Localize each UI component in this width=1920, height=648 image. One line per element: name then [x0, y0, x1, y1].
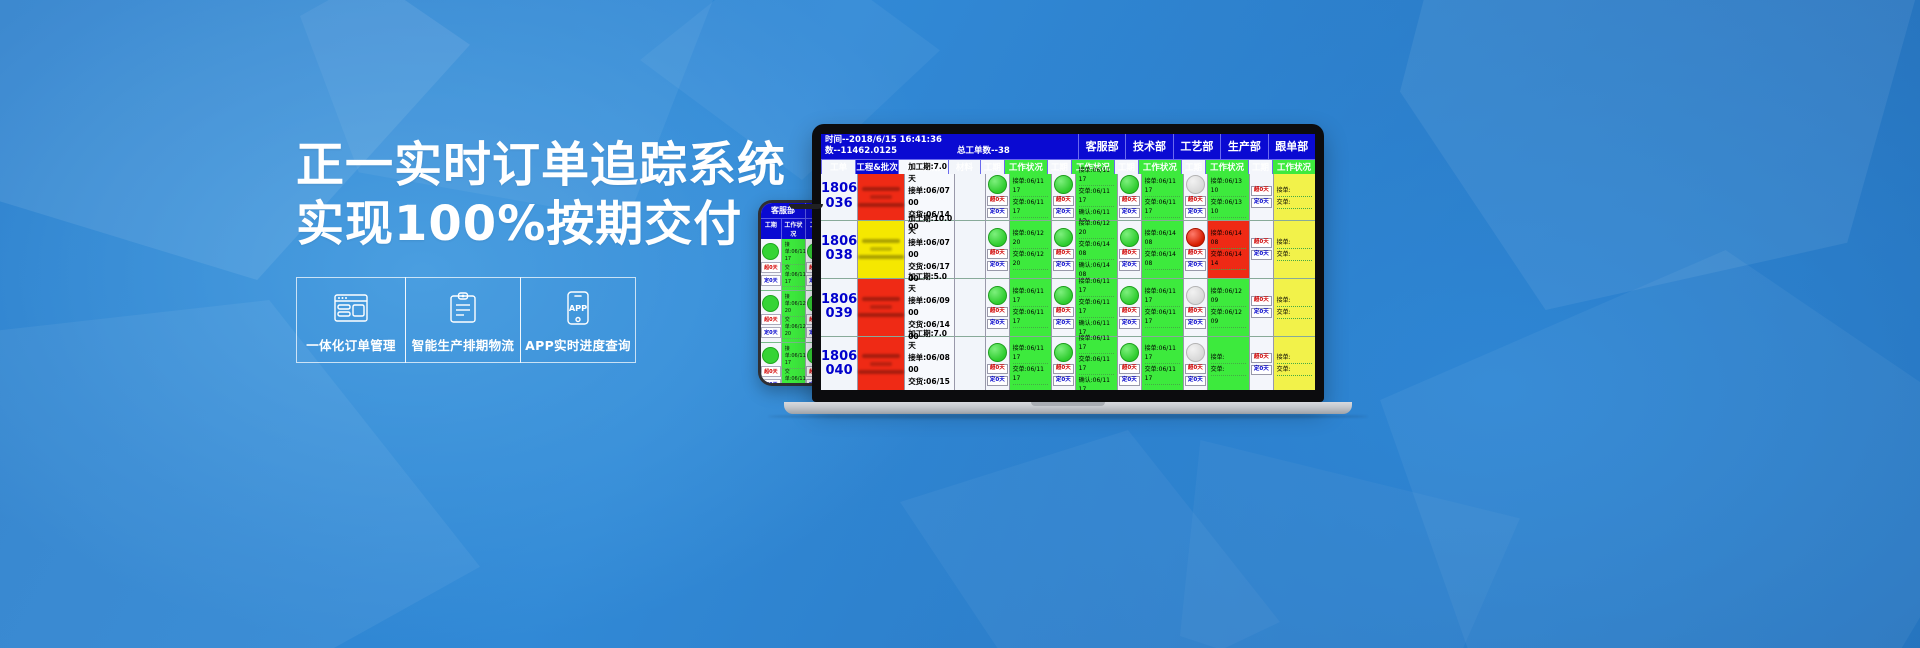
bg-polygon [1400, 0, 1920, 310]
status-content: 接单:06/13 10交单:06/13 10 [1208, 174, 1249, 220]
project-cell[interactable] [858, 337, 904, 390]
app-badge-text: APP [569, 303, 587, 313]
cycle-line: 加工期:7.0天 [908, 161, 953, 185]
feature-app-progress[interactable]: APP APP实时进度查询 [520, 277, 636, 363]
project-text-blur [870, 195, 892, 199]
duration-cell[interactable]: 超0天定0天 [1118, 279, 1141, 337]
over-days-tag: 超0天 [1053, 307, 1074, 317]
status-line: 接单:06/11 17 [782, 346, 805, 369]
status-line: 交单: [1277, 197, 1312, 209]
feature-production-schedule[interactable]: 智能生产排期物流 [405, 277, 521, 363]
col-header-status: 工作状况 [1004, 160, 1047, 174]
duration-content: 超0天定0天 [1052, 174, 1075, 220]
status-line: 交单:06/14 14 [1211, 249, 1246, 270]
column-duration-3: 超0天定0天超0天定0天超0天定0天超0天定0天 [1117, 174, 1141, 390]
dept-technical: 技术部 [1125, 134, 1172, 159]
project-text-blur [870, 362, 892, 366]
column-work-status-5: 接单:交单:接单:交单:接单:交单:接单:交单: [1273, 174, 1315, 390]
status-line: 交单:06/14 08 [1079, 239, 1114, 260]
mobile-app-icon: APP [566, 288, 590, 328]
duration-content: 超0天定0天 [1118, 174, 1141, 220]
duration-cell[interactable]: 超0天定0天 [1118, 174, 1141, 221]
over-days-tag: 超0天 [761, 366, 780, 377]
status-cell[interactable]: 接单:06/11 17交单:06/11 17 [1142, 174, 1183, 221]
duration-content: 超0天定0天 [1250, 221, 1273, 278]
status-line: 交单:06/11 17 [1013, 364, 1048, 385]
fixed-days-tag: 定0天 [1251, 198, 1272, 208]
status-content: 接单:交单: [1274, 174, 1315, 220]
duration-cell[interactable]: 超0天定0天 [1184, 279, 1207, 337]
order-management-icon [334, 288, 368, 328]
duration-content: 超0天定0天 [1184, 221, 1207, 278]
status-line: 交单:06/11 17 [782, 369, 805, 384]
status-dot-green [988, 286, 1007, 305]
fixed-days-tag: 定0天 [1251, 250, 1272, 260]
fixed-days-tag: 定0天 [1185, 261, 1206, 271]
duration-content: 超0天定0天 [1250, 174, 1273, 220]
duration-cell[interactable]: 超0天定0天 [1184, 337, 1207, 390]
status-cell[interactable]: 接单:06/11 17交单:06/11 17确认:06/11 17 [1076, 279, 1117, 337]
over-days-tag: 超0天 [1119, 307, 1140, 317]
cycle-cell[interactable]: 加工期:7.0天接单:06/08 00交货:06/15 00 [905, 337, 953, 390]
status-dot-green [1120, 286, 1139, 305]
dept-merchandising: 跟单部 [1268, 134, 1315, 159]
status-line: 交单:06/14 08 [1145, 249, 1180, 270]
topbar-info: 时间--2018/6/15 16:41:36 数--11462.0125 总工单… [821, 134, 1078, 159]
phone-col-status: 工作状况 [782, 218, 806, 239]
status-line: 交单:06/11 17 [1079, 186, 1114, 207]
phone-cell[interactable]: 接单:06/11 17 交单:06/11 17 [782, 239, 805, 291]
status-line: 接单: [1277, 237, 1312, 249]
phone-cell[interactable]: 超0天 定0天 [761, 343, 781, 383]
status-line: 接单: [1277, 352, 1312, 364]
status-line: 接单:06/11 17 [782, 242, 805, 265]
project-text-blur [870, 305, 892, 309]
project-text-blur [858, 370, 904, 374]
fixed-days-tag: 定0天 [1119, 261, 1140, 271]
column-work-status-4: 接单:06/13 10交单:06/13 10接单:06/14 08交单:06/1… [1207, 174, 1249, 390]
topbar-time: 时间--2018/6/15 16:41:36 [825, 135, 1074, 146]
status-line: 接单:06/12 20 [782, 294, 805, 317]
col-header-duration: 工期 [980, 160, 1004, 174]
status-line: 交单: [1277, 364, 1312, 376]
duration-cell[interactable]: 超0天定0天 [986, 279, 1009, 337]
column-processing-cycle: 加工期:7.0天接单:06/07 00交货:06/14 00加工期:10.0天接… [904, 174, 953, 390]
project-text-blur [870, 247, 892, 251]
fixed-days-tag: 定0天 [1119, 376, 1140, 386]
over-days-tag: 超0天 [987, 307, 1008, 317]
duration-content: 超0天定0天 [1250, 279, 1273, 336]
project-text-blur [858, 255, 904, 259]
material-cell[interactable] [955, 279, 985, 337]
project-content [858, 337, 904, 390]
fixed-days-tag: 定0天 [987, 319, 1008, 329]
project-text-blur [862, 187, 900, 191]
table-row[interactable]: 1806040 [821, 337, 857, 390]
wo-prefix: 1806 [821, 293, 857, 308]
duration-cell[interactable]: 超0天定0天 [986, 221, 1009, 279]
status-line: 交单:06/11 17 [1013, 197, 1048, 218]
project-content [858, 174, 904, 220]
over-days-tag: 超0天 [1053, 196, 1074, 206]
col-header-project: 工程&批次 [855, 160, 897, 174]
status-dot-green [1054, 343, 1073, 362]
fixed-days-tag: 定0天 [761, 327, 780, 338]
status-line: 接单:06/13 10 [1211, 176, 1246, 197]
status-line: 接单: [1277, 295, 1312, 307]
table-row[interactable]: 1806038 [821, 221, 857, 279]
status-line: 交单:06/11 17 [782, 265, 805, 288]
column-material [954, 174, 985, 390]
over-days-tag: 超0天 [1119, 196, 1140, 206]
fixed-days-tag: 定0天 [987, 376, 1008, 386]
over-days-tag: 超0天 [1251, 296, 1272, 306]
status-cell[interactable]: 接单:06/11 17交单:06/11 17 [1142, 337, 1183, 390]
status-dot-red [1186, 228, 1205, 247]
duration-content: 超0天定0天 [1118, 337, 1141, 390]
duration-cell[interactable]: 超0天定0天 [986, 174, 1009, 221]
over-days-tag: 超0天 [1185, 307, 1206, 317]
status-cell[interactable]: 接单:交单: [1274, 279, 1315, 337]
status-line: 接单:06/11 17 [1079, 165, 1114, 186]
cycle-line: 接单:06/08 00 [908, 352, 953, 376]
status-line: 交单:06/12 20 [782, 317, 805, 340]
fixed-days-tag: 定0天 [1185, 376, 1206, 386]
status-line: 交单:06/11 17 [1145, 197, 1180, 218]
col-header-duration: 工期 [1047, 160, 1071, 174]
status-line: 交单: [1277, 307, 1312, 319]
status-dot-grey [1186, 286, 1205, 305]
dept-production: 生产部 [1220, 134, 1267, 159]
dashboard-screen: 时间--2018/6/15 16:41:36 数--11462.0125 总工单… [821, 134, 1315, 390]
phone-column-duration-1: 超0天 定0天 超0天 定0天 超0天 定0天 [761, 239, 782, 383]
col-header-duration: 工期 [1114, 160, 1138, 174]
status-line: 接单:06/11 17 [1013, 343, 1048, 364]
status-line: 交单:06/11 17 [1079, 297, 1114, 318]
duration-content: 超0天定0天 [1052, 221, 1075, 278]
material-cell[interactable] [955, 174, 985, 221]
wo-suffix: 038 [826, 249, 853, 264]
status-content: 接单:交单: [1274, 221, 1315, 278]
feature-label: 智能生产排期物流 [412, 335, 514, 354]
cycle-content: 加工期:7.0天接单:06/08 00交货:06/15 00 [905, 337, 953, 390]
status-content: 接单:06/11 17交单:06/11 17确认:06/11 17 [1076, 279, 1117, 336]
duration-cell[interactable]: 超0天定0天 [1052, 221, 1075, 279]
feature-label: APP实时进度查询 [525, 335, 631, 354]
over-days-tag: 超0天 [1053, 364, 1074, 374]
fixed-days-tag: 定0天 [761, 275, 780, 286]
fixed-days-tag: 定0天 [1053, 208, 1074, 218]
column-work-status-2: 接单:06/11 17交单:06/11 17确认:06/11 17接单:06/1… [1075, 174, 1117, 390]
over-days-tag: 超0天 [1251, 186, 1272, 196]
duration-content: 超0天定0天 [1052, 279, 1075, 336]
cycle-line: 加工期:5.0天 [908, 271, 953, 295]
work-order-number: 1806038 [821, 221, 857, 278]
status-content: 接单:06/11 17交单:06/11 17 [1142, 337, 1183, 390]
project-text-blur [858, 313, 904, 317]
cycle-line: 交货:06/15 00 [908, 376, 953, 390]
column-duration-2: 超0天定0天超0天定0天超0天定0天超0天定0天 [1051, 174, 1075, 390]
laptop-mockup: 时间--2018/6/15 16:41:36 数--11462.0125 总工单… [812, 124, 1324, 419]
status-line: 接单:06/14 08 [1211, 228, 1246, 249]
status-dot-green [762, 347, 779, 364]
feature-label: 一体化订单管理 [306, 335, 396, 354]
status-dot-green [988, 175, 1007, 194]
duration-content: 超0天定0天 [1184, 174, 1207, 220]
column-project-batch [857, 174, 904, 390]
duration-cell[interactable]: 超0天定0天 [1250, 337, 1273, 390]
status-line: 交单:06/12 20 [1013, 249, 1048, 270]
project-text-blur [862, 354, 900, 358]
duration-cell[interactable]: 超0天定0天 [1052, 337, 1075, 390]
material-cell[interactable] [955, 221, 985, 279]
fixed-days-tag: 定0天 [1053, 319, 1074, 329]
status-content: 接单:06/11 17交单:06/11 17 [1010, 337, 1051, 390]
wo-suffix: 040 [826, 364, 853, 379]
column-work-order: 1806036180603818060391806040 [821, 174, 857, 390]
wo-prefix: 1806 [821, 350, 857, 365]
status-line: 交单:06/11 17 [1145, 307, 1180, 328]
duration-cell[interactable]: 超0天定0天 [986, 337, 1009, 390]
fixed-days-tag: 定0天 [1053, 376, 1074, 386]
dept-process: 工艺部 [1173, 134, 1220, 159]
dashboard-topbar: 时间--2018/6/15 16:41:36 数--11462.0125 总工单… [821, 134, 1315, 159]
over-days-tag: 超0天 [987, 249, 1008, 259]
duration-cell[interactable]: 超0天定0天 [1118, 221, 1141, 279]
phone-notch [789, 204, 823, 209]
fixed-days-tag: 定0天 [1053, 261, 1074, 271]
work-order-number: 1806040 [821, 337, 857, 390]
status-line: 接单:06/12 20 [1013, 228, 1048, 249]
project-content [858, 279, 904, 336]
column-duration-4: 超0天定0天超0天定0天超0天定0天超0天定0天 [1183, 174, 1207, 390]
duration-content: 超0天定0天 [1118, 221, 1141, 278]
cycle-line: 加工期:10.0天 [908, 213, 953, 237]
column-duration-5: 超0天定0天超0天定0天超0天定0天超0天定0天 [1249, 174, 1273, 390]
cycle-content: 加工期:5.0天接单:06/09 00交货:06/14 00 [905, 279, 953, 336]
status-cell[interactable]: 接单:06/11 17交单:06/11 17 [1010, 337, 1051, 390]
status-content: 接单:交单: [1208, 337, 1249, 390]
duration-cell[interactable]: 超0天定0天 [1118, 337, 1141, 390]
clipboard-schedule-icon [448, 288, 478, 328]
over-days-tag: 超0天 [987, 364, 1008, 374]
cycle-line: 接单:06/09 00 [908, 295, 953, 319]
status-dot-grey [1186, 175, 1205, 194]
work-order-number: 1806039 [821, 279, 857, 336]
wo-suffix: 039 [826, 307, 853, 322]
fixed-days-tag: 定0天 [1251, 308, 1272, 318]
status-dot-green [1120, 343, 1139, 362]
project-text-blur [862, 297, 900, 301]
over-days-tag: 超0天 [1185, 249, 1206, 259]
status-dot-green [1054, 228, 1073, 247]
material-cell[interactable] [955, 337, 985, 390]
status-line: 接单:06/11 17 [1079, 333, 1114, 354]
over-days-tag: 超0天 [1119, 364, 1140, 374]
table-row[interactable]: 1806039 [821, 279, 857, 337]
fixed-days-tag: 定0天 [761, 379, 780, 383]
status-dot-green [1054, 286, 1073, 305]
fixed-days-tag: 定0天 [1119, 319, 1140, 329]
duration-cell[interactable]: 超0天定0天 [1184, 174, 1207, 221]
status-line: 接单:06/11 17 [1145, 176, 1180, 197]
promo-banner: 正一实时订单追踪系统 实现100%按期交付 一体化订单管理 [0, 0, 1920, 648]
status-dot-green [1120, 175, 1139, 194]
status-line: 确认:06/11 17 [1079, 375, 1114, 390]
status-content: 接单:06/12 20交单:06/12 20 [1010, 221, 1051, 278]
project-text-blur [862, 239, 900, 243]
project-cell[interactable] [858, 174, 904, 221]
duration-content: 超0天定0天 [1184, 337, 1207, 390]
status-dot-green [762, 243, 779, 260]
dashboard-table-body: 1806036180603818060391806040加工期:7.0天接单:0… [821, 174, 1315, 390]
phone-column-status-1: 接单:06/11 17 交单:06/11 17 接单:06/12 20 交单:0… [782, 239, 806, 383]
duration-content: 超0天定0天 [1118, 279, 1141, 336]
duration-cell[interactable]: 超0天定0天 [1052, 174, 1075, 221]
status-line: 交单:06/13 10 [1211, 197, 1246, 218]
over-days-tag: 超0天 [761, 262, 780, 273]
status-line: 接单: [1277, 185, 1312, 197]
wo-prefix: 1806 [821, 235, 857, 250]
status-line: 接单:06/14 08 [1145, 228, 1180, 249]
status-cell[interactable]: 接单:交单: [1274, 221, 1315, 279]
column-header-row: 工单 工程&批次 加工周期 材料 工期 工作状况 工期 工作状况 工期 工作状况… [821, 159, 1315, 174]
status-cell[interactable]: 接单:06/11 17交单:06/11 17 [1142, 279, 1183, 337]
status-cell[interactable]: 接单:06/14 08交单:06/14 08 [1142, 221, 1183, 279]
status-cell[interactable]: 接单:交单: [1274, 174, 1315, 221]
feature-order-management[interactable]: 一体化订单管理 [296, 277, 406, 363]
status-dot-green [762, 295, 779, 312]
project-content [858, 221, 904, 278]
status-cell[interactable]: 接单:06/11 17交单:06/11 17确认:06/11 17 [1076, 174, 1117, 221]
duration-content: 超0天定0天 [1184, 279, 1207, 336]
status-line: 接单:06/11 17 [1145, 286, 1180, 307]
duration-content: 超0天定0天 [986, 337, 1009, 390]
status-cell[interactable]: 接单:06/12 20交单:06/12 20 [1010, 221, 1051, 279]
status-dot-green [1054, 175, 1073, 194]
project-cell[interactable] [858, 279, 904, 337]
over-days-tag: 超0天 [1119, 249, 1140, 259]
duration-cell[interactable]: 超0天定0天 [1250, 174, 1273, 221]
status-content: 接单:06/14 08交单:06/14 14 [1208, 221, 1249, 278]
status-cell[interactable]: 接单:交单: [1208, 337, 1249, 390]
status-cell[interactable]: 接单:06/13 10交单:06/13 10 [1208, 174, 1249, 221]
status-content: 接单:06/11 17交单:06/11 17确认:06/11 17 [1076, 337, 1117, 390]
duration-content: 超0天定0天 [1052, 337, 1075, 390]
laptop-base [784, 402, 1352, 414]
duration-cell[interactable]: 超0天定0天 [1052, 279, 1075, 337]
duration-cell[interactable]: 超0天定0天 [1250, 279, 1273, 337]
status-cell[interactable]: 接单:06/11 17交单:06/11 17 [1010, 174, 1051, 221]
fixed-days-tag: 定0天 [1119, 208, 1140, 218]
status-line: 交单:06/11 17 [1013, 307, 1048, 328]
work-order-number: 1806036 [821, 174, 857, 220]
status-dot-green [1120, 228, 1139, 247]
table-row[interactable]: 1806036 [821, 174, 857, 221]
cycle-cell[interactable]: 加工期:10.0天接单:06/07 00交货:06/17 00 [905, 221, 953, 279]
duration-content: 超0天定0天 [986, 221, 1009, 278]
over-days-tag: 超0天 [987, 196, 1008, 206]
col-header-status: 工作状况 [1272, 160, 1315, 174]
status-line: 接单:06/12 20 [1079, 218, 1114, 239]
status-cell[interactable]: 接单:06/11 17交单:06/11 17确认:06/11 17 [1076, 337, 1117, 390]
column-work-status-3: 接单:06/11 17交单:06/11 17接单:06/14 08交单:06/1… [1141, 174, 1183, 390]
cycle-line: 接单:06/07 00 [908, 185, 953, 209]
status-line: 接单:06/11 17 [1013, 176, 1048, 197]
wo-prefix: 1806 [821, 182, 857, 197]
status-cell[interactable]: 接单:06/12 20交单:06/14 08确认:06/14 08 [1076, 221, 1117, 279]
status-content: 接单:06/11 17交单:06/11 17 [1142, 174, 1183, 220]
duration-content: 超0天定0天 [986, 279, 1009, 336]
status-cell[interactable]: 接单:06/12 09交单:06/12 09 [1208, 279, 1249, 337]
fixed-days-tag: 定0天 [987, 208, 1008, 218]
project-text-blur [858, 203, 904, 207]
status-cell[interactable]: 接单:06/11 17交单:06/11 17 [1010, 279, 1051, 337]
status-cell[interactable]: 接单:交单: [1274, 337, 1315, 390]
dept-customer-service: 客服部 [1078, 134, 1125, 159]
over-days-tag: 超0天 [1251, 238, 1272, 248]
col-header-work-order: 工单 [821, 160, 855, 174]
col-header-status: 工作状况 [1138, 160, 1181, 174]
cycle-line: 接单:06/07 00 [908, 237, 953, 261]
topbar-total-orders: 总工单数--38 [957, 146, 1010, 156]
status-content: 接单:06/11 17交单:06/11 17确认:06/11 17 [1076, 174, 1117, 220]
cycle-content: 加工期:10.0天接单:06/07 00交货:06/17 00 [905, 221, 953, 278]
status-line: 交单:06/11 17 [1079, 354, 1114, 375]
status-content: 接单:06/14 08交单:06/14 08 [1142, 221, 1183, 278]
col-header-status: 工作状况 [1205, 160, 1248, 174]
phone-cell[interactable]: 接单:06/11 17 交单:06/11 17 [782, 343, 805, 383]
status-content: 接单:06/12 20交单:06/14 08确认:06/14 08 [1076, 221, 1117, 278]
laptop-lid: 时间--2018/6/15 16:41:36 数--11462.0125 总工单… [812, 124, 1324, 402]
status-line: 交单: [1277, 249, 1312, 261]
duration-cell[interactable]: 超0天定0天 [1250, 221, 1273, 279]
phone-col-duration: 工期 [761, 218, 782, 239]
over-days-tag: 超0天 [1185, 196, 1206, 206]
fixed-days-tag: 定0天 [987, 261, 1008, 271]
over-days-tag: 超0天 [1185, 364, 1206, 374]
fixed-days-tag: 定0天 [1185, 319, 1206, 329]
status-content: 接单:06/11 17交单:06/11 17 [1010, 174, 1051, 220]
over-days-tag: 超0天 [1251, 353, 1272, 363]
col-header-duration: 工期 [1181, 160, 1205, 174]
cycle-line: 加工期:7.0天 [908, 328, 953, 352]
status-content: 接单:交单: [1274, 337, 1315, 390]
wo-suffix: 036 [826, 197, 853, 212]
duration-content: 超0天定0天 [1250, 337, 1273, 390]
phone-cell[interactable]: 接单:06/12 20 交单:06/12 20 [782, 291, 805, 343]
status-line: 交单: [1211, 364, 1246, 376]
status-content: 接单:交单: [1274, 279, 1315, 336]
phone-cell[interactable]: 超0天 定0天 [761, 291, 781, 343]
status-line: 接单:06/11 17 [1079, 276, 1114, 297]
status-line: 接单:06/12 09 [1211, 286, 1246, 307]
fixed-days-tag: 定0天 [1185, 208, 1206, 218]
col-header-duration: 工期 [1248, 160, 1272, 174]
column-duration-1: 超0天定0天超0天定0天超0天定0天超0天定0天 [985, 174, 1009, 390]
status-content: 接单:06/11 17交单:06/11 17 [1142, 279, 1183, 336]
laptop-shadow [768, 414, 1368, 419]
status-line: 接单:06/11 17 [1013, 286, 1048, 307]
duration-cell[interactable]: 超0天定0天 [1184, 221, 1207, 279]
status-dot-grey [1186, 343, 1205, 362]
topbar-counts: 数--11462.0125 总工单数--38 [825, 146, 1074, 157]
status-cell[interactable]: 接单:06/14 08交单:06/14 14 [1208, 221, 1249, 279]
topbar-count-value: 数--11462.0125 [825, 146, 897, 156]
status-line: 交单:06/12 09 [1211, 307, 1246, 328]
project-cell[interactable] [858, 221, 904, 279]
phone-cell[interactable]: 超0天 定0天 [761, 239, 781, 291]
